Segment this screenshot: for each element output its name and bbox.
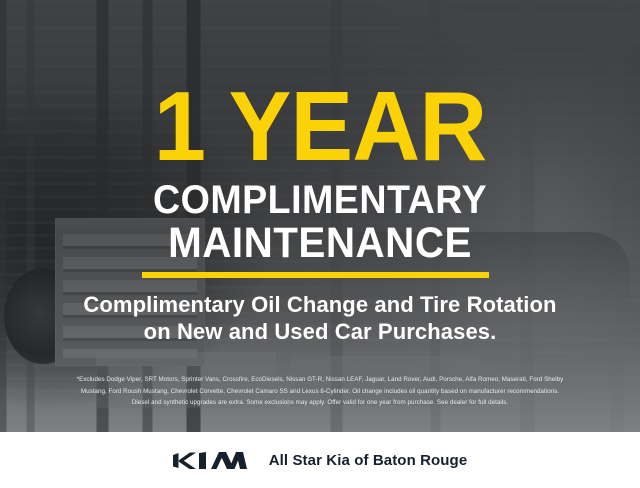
headline-secondary-line2: MAINTENANCE: [19, 222, 621, 265]
kia-logo-icon: [173, 450, 247, 471]
disclaimer-line-2: Mustang, Ford Roush Mustang, Chevrolet C…: [14, 386, 626, 398]
subheadline-line1: Complimentary Oil Change and Tire Rotati…: [83, 292, 556, 317]
disclaimer-fine-print: *Excludes Dodge Viper, SRT Motors, Sprin…: [14, 374, 626, 409]
hero-image-area: 1 YEAR COMPLIMENTARY MAINTENANCE Complim…: [0, 0, 640, 432]
dealer-footer-bar: All Star Kia of Baton Rouge: [0, 432, 640, 488]
subheadline-line2: on New and Used Car Purchases.: [24, 318, 616, 345]
dealer-name-label: All Star Kia of Baton Rouge: [269, 452, 468, 469]
disclaimer-line-3: Diesel and synthetic upgrades are extra.…: [14, 397, 626, 409]
hero-content: 1 YEAR COMPLIMENTARY MAINTENANCE Complim…: [0, 0, 640, 432]
promo-banner: 1 YEAR COMPLIMENTARY MAINTENANCE Complim…: [0, 0, 640, 488]
headline-primary: 1 YEAR: [13, 77, 627, 175]
yellow-divider-rule: [142, 272, 489, 278]
subheadline: Complimentary Oil Change and Tire Rotati…: [24, 291, 616, 345]
headline-secondary-line1: COMPLIMENTARY: [19, 180, 621, 220]
disclaimer-line-1: *Excludes Dodge Viper, SRT Motors, Sprin…: [14, 374, 626, 386]
